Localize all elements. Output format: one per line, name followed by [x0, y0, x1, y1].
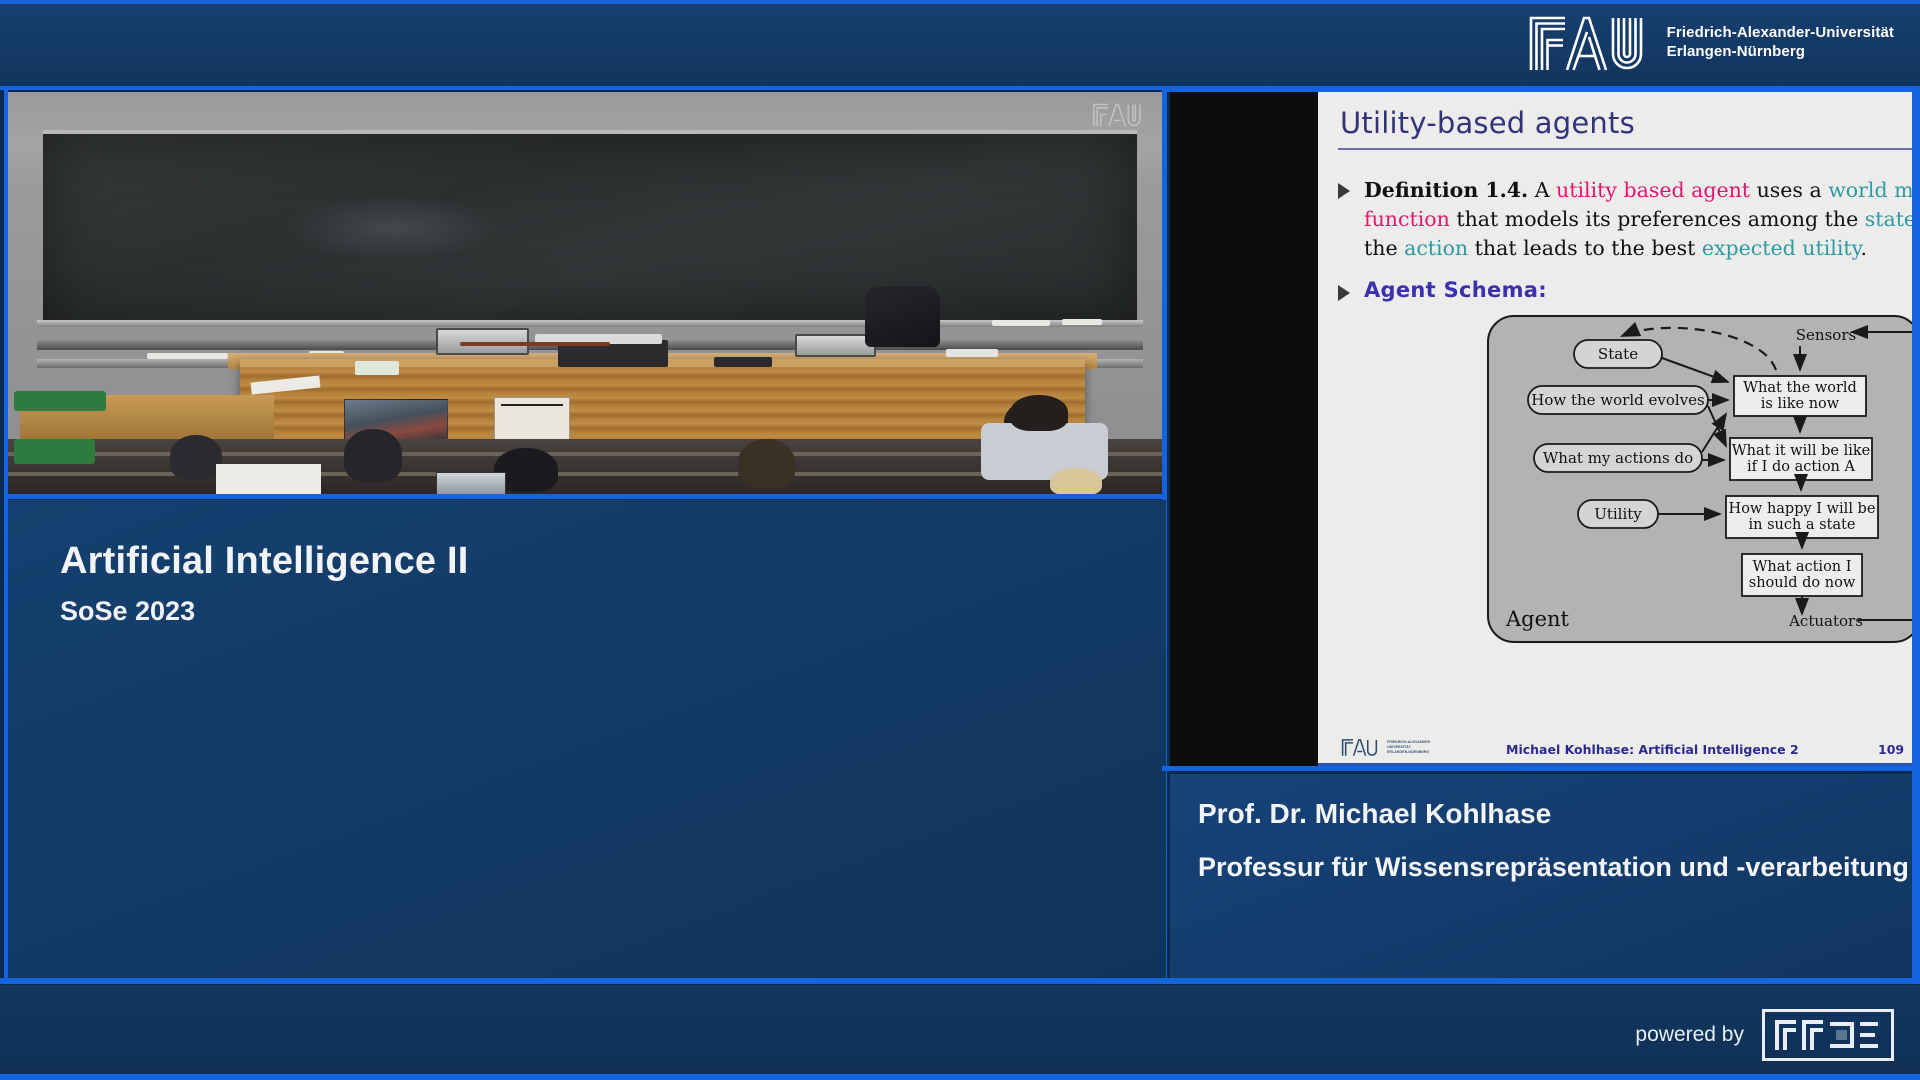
process-node-how-happy: How happy I will be in such a state — [1726, 496, 1878, 538]
blackboard — [43, 130, 1137, 320]
page-header: Friedrich-Alexander-Universität Erlangen… — [0, 0, 1920, 86]
definition-segment-12: . — [1861, 236, 1868, 260]
bottom-divider — [0, 978, 1920, 984]
student — [1050, 468, 1102, 496]
node-label-world-now-1: What the world — [1743, 380, 1857, 396]
knowledge-node-utility: Utility — [1578, 500, 1658, 528]
slide-footer-author: Michael Kohlhase: Artificial Intelligenc… — [1506, 742, 1799, 757]
presenter-name: Prof. Dr. Michael Kohlhase — [1198, 798, 1551, 830]
node-label-if-action-1: What it will be like — [1732, 443, 1870, 459]
rrze-logo-icon — [1774, 1018, 1882, 1052]
presenter-chair: Professur für Wissensrepräsentation und … — [1198, 852, 1909, 883]
process-node-what-action: What action I should do now — [1742, 554, 1862, 596]
backpack — [865, 286, 940, 347]
node-label-world-evolves: How the world evolves — [1531, 391, 1705, 409]
slide-footer-page: 109 — [1878, 742, 1904, 757]
desk-item — [946, 349, 998, 357]
bullet-triangle-icon — [1338, 183, 1350, 199]
right-frame-line — [1912, 88, 1920, 981]
slide-top-line — [1162, 88, 1920, 92]
slide-title-underline — [1338, 148, 1912, 150]
top-edge-line — [0, 0, 1920, 4]
knowledge-node-world-evolves: How the world evolves — [1528, 386, 1708, 414]
chalk-piece — [1062, 319, 1103, 325]
student-laptop — [436, 472, 505, 496]
definition-segment-3: world model — [1828, 178, 1912, 202]
powered-by-block: powered by — [1635, 1009, 1894, 1061]
student — [170, 435, 222, 479]
video-scene — [8, 92, 1166, 496]
schema-label: Agent Schema: — [1364, 278, 1547, 302]
video-bottom-line — [4, 494, 1167, 499]
definition-segment-1: utility based agent — [1556, 178, 1750, 202]
poster-text — [494, 397, 569, 445]
powered-by-label: powered by — [1635, 1023, 1744, 1047]
sensors-label: Sensors — [1796, 326, 1856, 344]
fau-logo-icon — [1527, 12, 1655, 74]
presenter-monitor — [436, 328, 529, 354]
agent-schema-svg: State How the world evolves What my acti… — [1486, 314, 1912, 644]
knowledge-node-actions-do: What my actions do — [1534, 444, 1702, 472]
held-paper — [216, 464, 320, 496]
node-label-world-now-2: is like now — [1761, 396, 1840, 412]
course-title-block: Artificial Intelligence II SoSe 2023 — [8, 500, 1166, 981]
agent-schema-diagram: State How the world evolves What my acti… — [1486, 314, 1912, 644]
fau-brand: Friedrich-Alexander-Universität Erlangen… — [1527, 12, 1894, 74]
presentation-slide: Utility-based agents Definition 1.4. A u… — [1318, 92, 1912, 770]
lecture-recording-viewer: Friedrich-Alexander-Universität Erlangen… — [0, 0, 1920, 1080]
chalk-piece — [992, 320, 1050, 326]
tissue-box — [355, 361, 399, 375]
node-label-how-happy-2: in such a state — [1748, 517, 1855, 533]
bottom-edge-line — [0, 1074, 1920, 1080]
node-label-actions-do: What my actions do — [1543, 449, 1693, 467]
student — [738, 439, 796, 487]
slide-viewer[interactable]: Utility-based agents Definition 1.4. A u… — [1170, 92, 1912, 770]
definition-segment-11: expected utility — [1702, 236, 1861, 260]
rrze-logo[interactable] — [1762, 1009, 1894, 1061]
node-label-how-happy-1: How happy I will be — [1729, 501, 1876, 517]
definition-text: Definition 1.4. A utility based agent us… — [1364, 176, 1912, 263]
slide-footer-brand: FRIEDRICH-ALEXANDER UNIVERSITÄT ERLANGEN… — [1340, 738, 1430, 757]
course-term: SoSe 2023 — [60, 596, 195, 627]
node-label-if-action-2: if I do action A — [1747, 459, 1855, 475]
presenter-info-block: Prof. Dr. Michael Kohlhase Professur für… — [1170, 774, 1912, 981]
green-chair — [14, 391, 107, 411]
schema-bullet: Agent Schema: — [1338, 278, 1547, 302]
actuators-label: Actuators — [1788, 612, 1863, 630]
green-chair — [14, 439, 95, 463]
node-label-what-action-2: should do now — [1749, 575, 1856, 591]
cable — [460, 342, 611, 345]
definition-label: Definition 1.4. — [1364, 178, 1528, 202]
process-node-world-now: What the world is like now — [1734, 376, 1866, 416]
fau-footer-logo-icon — [1340, 738, 1382, 757]
node-label-state: State — [1598, 345, 1638, 363]
video-fau-watermark — [1090, 102, 1148, 133]
course-title: Artificial Intelligence II — [60, 540, 469, 583]
definition-segment-7: states — [1865, 207, 1912, 231]
agent-label: Agent — [1505, 607, 1570, 631]
slide-bottom-line — [1162, 766, 1920, 771]
student — [344, 429, 402, 482]
process-node-if-action: What it will be like if I do action A — [1730, 438, 1872, 480]
definition-segment-9: action — [1404, 236, 1468, 260]
university-name: Friedrich-Alexander-Universität Erlangen… — [1667, 24, 1894, 61]
page-footer: powered by — [0, 985, 1920, 1080]
knowledge-node-state: State — [1574, 340, 1662, 368]
board-rail-upper — [37, 320, 1143, 327]
definition-segment-10: that leads to the best — [1468, 236, 1702, 260]
slide-title: Utility-based agents — [1340, 106, 1635, 140]
blackboard-reflection — [283, 194, 502, 261]
definition-segment-0: A — [1528, 178, 1556, 202]
fau-watermark-icon — [1090, 102, 1148, 128]
node-label-what-action-1: What action I — [1753, 559, 1852, 575]
slide-footer: FRIEDRICH-ALEXANDER UNIVERSITÄT ERLANGEN… — [1318, 730, 1912, 770]
definition-segment-2: uses a — [1750, 178, 1828, 202]
definition-segment-6: that models its preferences among the — [1450, 207, 1865, 231]
chalk-piece — [147, 353, 228, 359]
control-panel — [714, 357, 772, 367]
lecture-video-feed[interactable] — [8, 92, 1166, 496]
definition-bullet: Definition 1.4. A utility based agent us… — [1338, 176, 1912, 263]
fau-footer-subtext: FRIEDRICH-ALEXANDER UNIVERSITÄT ERLANGEN… — [1387, 740, 1430, 756]
student — [1010, 395, 1068, 431]
node-label-utility: Utility — [1594, 505, 1642, 523]
bullet-triangle-icon — [1338, 285, 1350, 301]
